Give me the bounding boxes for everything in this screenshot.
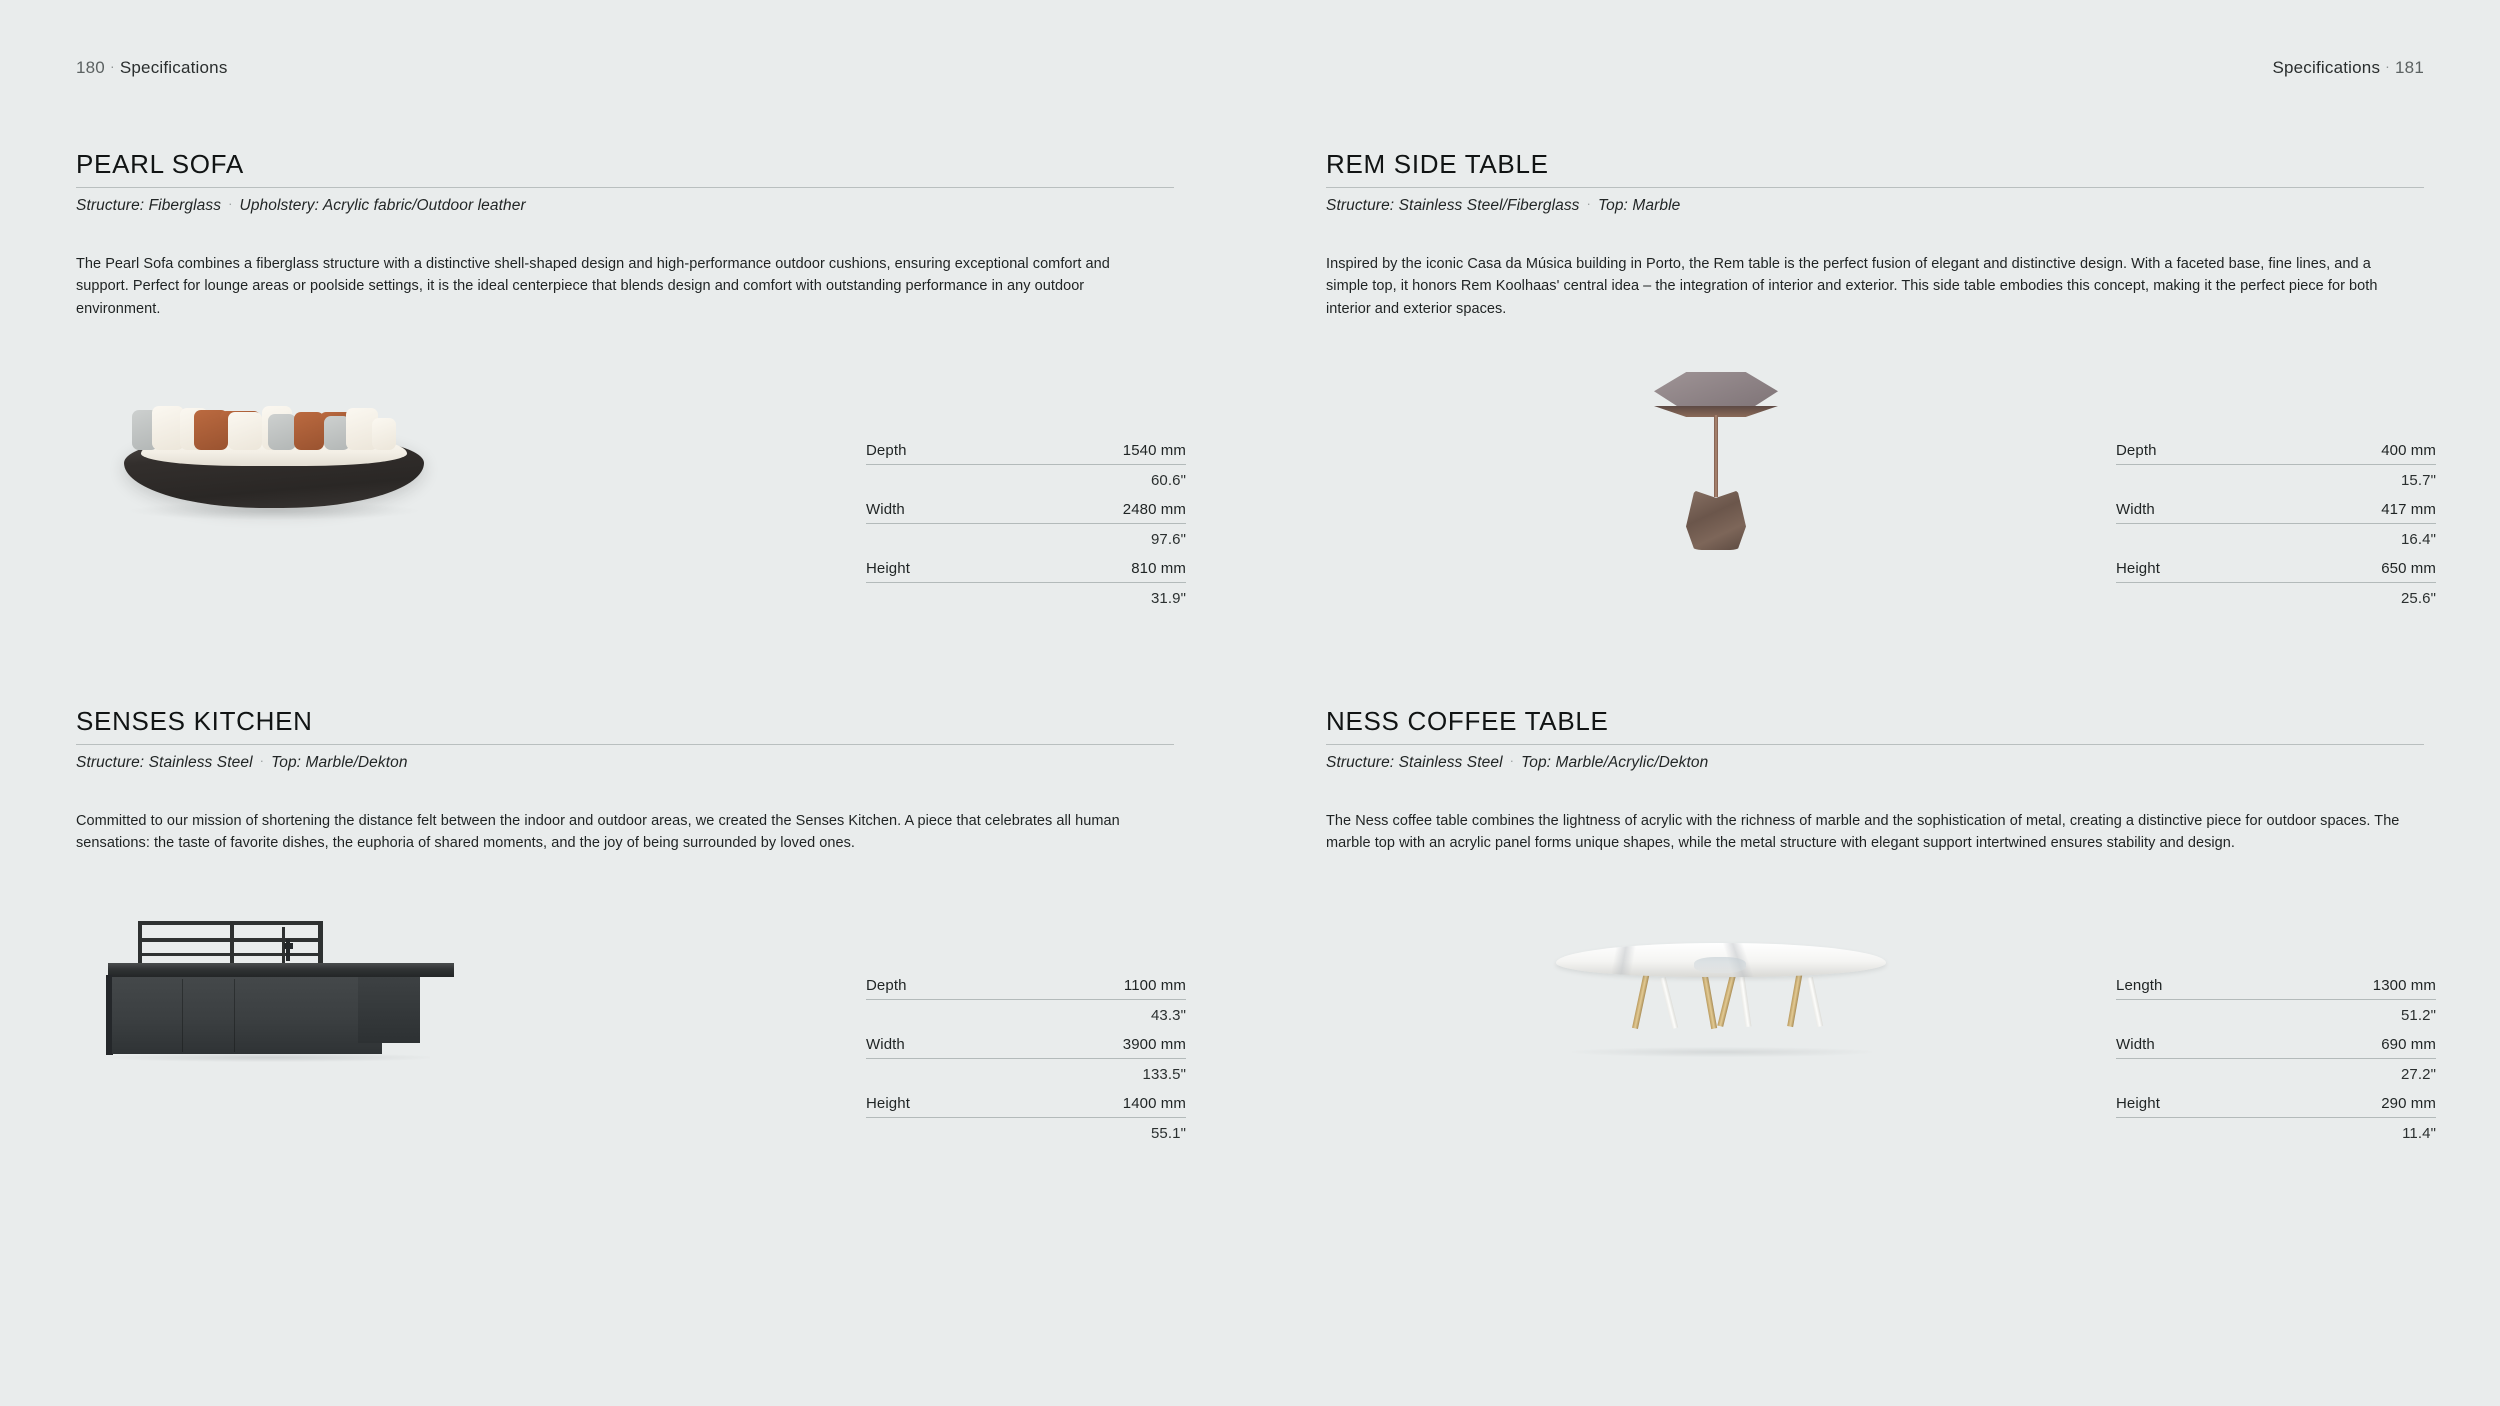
product-materials: Structure: Stainless Steel·Top: Marble/A… — [1326, 754, 2424, 772]
kitchen-frame-post — [138, 921, 142, 967]
spec-table-rem-side-table: Depth 400 mm 15.7" Width 417 mm 16.4" — [2116, 442, 2436, 619]
kitchen-frame-post — [230, 921, 234, 967]
spec-value-mm: 1400 mm — [1123, 1095, 1186, 1112]
kitchen-table-leg — [358, 977, 420, 1043]
title-rule — [1326, 187, 2424, 188]
kitchen-frame-rail — [138, 953, 323, 956]
ness-leg — [1787, 970, 1803, 1026]
spec-main: Depth 1100 mm — [866, 977, 1186, 999]
ness-leg — [1701, 968, 1717, 1028]
spec-label: Depth — [866, 977, 907, 994]
kitchen-frame-rail — [138, 921, 323, 925]
product-title: REM SIDE TABLE — [1326, 150, 2424, 179]
product-ness-coffee-table: NESS COFFEE TABLE Structure: Stainless S… — [1326, 707, 2424, 1154]
product-image-ness-coffee-table — [1326, 895, 2116, 1145]
page-right: REM SIDE TABLE Structure: Stainless Stee… — [1250, 150, 2500, 1154]
title-rule — [1326, 744, 2424, 745]
product-materials: Structure: Stainless Steel·Top: Marble/D… — [76, 754, 1174, 772]
spec-value-inches: 97.6" — [866, 524, 1186, 548]
material-separator: · — [253, 753, 271, 768]
spec-row: Length 1300 mm 51.2" — [2116, 977, 2436, 1024]
spec-label: Depth — [2116, 442, 2157, 459]
folio-right-page-number: 181 — [2395, 58, 2424, 77]
folio-right: Specifications·181 — [2272, 58, 2424, 78]
product-pearl-sofa: PEARL SOFA Structure: Fiberglass·Upholst… — [76, 150, 1174, 619]
spec-value-mm: 417 mm — [2381, 501, 2436, 518]
product-description: Inspired by the iconic Casa da Música bu… — [1326, 253, 2416, 320]
product-detail-row: Depth 1100 mm 43.3" Width 3900 mm 133.5" — [76, 895, 1174, 1154]
product-senses-kitchen: SENSES KITCHEN Structure: Stainless Stee… — [76, 707, 1174, 1154]
spec-row: Width 417 mm 16.4" — [2116, 501, 2436, 548]
spec-value-mm: 810 mm — [1131, 560, 1186, 577]
spec-value-inches: 15.7" — [2116, 465, 2436, 489]
kitchen-floor-shadow — [110, 1053, 430, 1062]
product-title: PEARL SOFA — [76, 150, 1174, 179]
material-upholstery: Upholstery: Acrylic fabric/Outdoor leath… — [240, 197, 526, 214]
spec-value-inches: 51.2" — [2116, 1000, 2436, 1024]
spec-value-inches: 16.4" — [2116, 524, 2436, 548]
sofa-pillow — [372, 418, 396, 450]
spec-label: Length — [2116, 977, 2162, 994]
spec-value-mm: 690 mm — [2381, 1036, 2436, 1053]
material-separator: · — [221, 196, 239, 211]
spec-main: Length 1300 mm — [2116, 977, 2436, 999]
product-description: The Ness coffee table combines the light… — [1326, 810, 2416, 855]
spec-row: Depth 1100 mm 43.3" — [866, 977, 1186, 1024]
product-detail-row: Depth 1540 mm 60.6" Width 2480 mm 97.6" — [76, 360, 1174, 619]
spec-value-mm: 650 mm — [2381, 560, 2436, 577]
ness-table-illustration — [1556, 943, 1886, 1063]
product-materials: Structure: Stainless Steel/Fiberglass·To… — [1326, 197, 2424, 215]
spec-value-mm: 1540 mm — [1123, 442, 1186, 459]
sofa-pillow — [268, 414, 296, 450]
spec-row: Height 1400 mm 55.1" — [866, 1095, 1186, 1142]
spec-main: Width 417 mm — [2116, 501, 2436, 523]
sofa-illustration — [124, 378, 424, 528]
spec-row: Width 690 mm 27.2" — [2116, 1036, 2436, 1083]
spec-main: Height 1400 mm — [866, 1095, 1186, 1117]
spec-value-inches: 43.3" — [866, 1000, 1186, 1024]
spec-row: Height 650 mm 25.6" — [2116, 560, 2436, 607]
spec-label: Width — [866, 501, 905, 518]
ness-floor-shadow — [1572, 1047, 1872, 1057]
spec-row: Height 290 mm 11.4" — [2116, 1095, 2436, 1142]
spec-value-inches: 11.4" — [2116, 1118, 2436, 1142]
kitchen-cabinet-body — [112, 977, 382, 1054]
ness-leg — [1717, 971, 1736, 1027]
spec-label: Width — [2116, 1036, 2155, 1053]
spec-row: Depth 1540 mm 60.6" — [866, 442, 1186, 489]
spec-main: Height 650 mm — [2116, 560, 2436, 582]
spec-table-senses-kitchen: Depth 1100 mm 43.3" Width 3900 mm 133.5" — [866, 977, 1186, 1154]
material-top: Top: Marble/Dekton — [271, 754, 408, 771]
spec-value-mm: 1100 mm — [1124, 977, 1186, 994]
kitchen-cabinet-seam — [182, 979, 183, 1052]
spec-value-mm: 1300 mm — [2373, 977, 2436, 994]
kitchen-cabinet-seam — [234, 979, 235, 1052]
title-rule — [76, 187, 1174, 188]
spec-row: Depth 400 mm 15.7" — [2116, 442, 2436, 489]
ness-leg — [1807, 976, 1823, 1026]
product-detail-row: Length 1300 mm 51.2" Width 690 mm 27.2" — [1326, 895, 2424, 1154]
material-structure: Structure: Stainless Steel/Fiberglass — [1326, 197, 1580, 214]
kitchen-illustration — [106, 905, 456, 1080]
ness-leg — [1739, 976, 1752, 1026]
spread: PEARL SOFA Structure: Fiberglass·Upholst… — [0, 150, 2500, 1154]
spec-row: Width 2480 mm 97.6" — [866, 501, 1186, 548]
material-separator: · — [1503, 753, 1521, 768]
title-rule — [76, 744, 1174, 745]
rem-table-illustration — [1642, 366, 1792, 546]
product-image-senses-kitchen — [76, 895, 866, 1145]
spec-value-inches: 31.9" — [866, 583, 1186, 607]
product-description: The Pearl Sofa combines a fiberglass str… — [76, 253, 1166, 320]
spec-row: Width 3900 mm 133.5" — [866, 1036, 1186, 1083]
spec-label: Width — [866, 1036, 905, 1053]
rem-faceted-base — [1686, 488, 1746, 550]
spec-label: Height — [2116, 1095, 2160, 1112]
spec-table-ness-coffee-table: Length 1300 mm 51.2" Width 690 mm 27.2" — [2116, 977, 2436, 1154]
spec-label: Height — [2116, 560, 2160, 577]
spec-main: Depth 400 mm — [2116, 442, 2436, 464]
spec-label: Depth — [866, 442, 907, 459]
folio-right-section: Specifications — [2272, 58, 2380, 77]
product-description: Committed to our mission of shortening t… — [76, 810, 1166, 855]
spec-label: Height — [866, 1095, 910, 1112]
rem-stem — [1714, 415, 1718, 497]
material-separator: · — [1580, 196, 1598, 211]
spec-row: Height 810 mm 31.9" — [866, 560, 1186, 607]
product-detail-row: Depth 400 mm 15.7" Width 417 mm 16.4" — [1326, 360, 2424, 619]
product-title: SENSES KITCHEN — [76, 707, 1174, 736]
material-top: Top: Marble/Acrylic/Dekton — [1521, 754, 1708, 771]
spec-table-pearl-sofa: Depth 1540 mm 60.6" Width 2480 mm 97.6" — [866, 442, 1186, 619]
folio-left-separator: · — [105, 58, 120, 74]
product-image-rem-side-table — [1326, 360, 2116, 610]
ness-leg — [1660, 977, 1678, 1029]
material-structure: Structure: Stainless Steel — [76, 754, 253, 771]
kitchen-frame-rail — [138, 938, 323, 942]
spec-value-mm: 2480 mm — [1123, 501, 1186, 518]
spec-value-inches: 25.6" — [2116, 583, 2436, 607]
kitchen-faucet-head — [284, 943, 293, 949]
product-image-pearl-sofa — [76, 360, 866, 610]
spec-value-inches: 27.2" — [2116, 1059, 2436, 1083]
spec-main: Width 690 mm — [2116, 1036, 2436, 1058]
kitchen-frame-post — [318, 921, 323, 967]
spec-main: Height 290 mm — [2116, 1095, 2436, 1117]
spec-label: Height — [866, 560, 910, 577]
ness-acrylic-panel — [1694, 957, 1746, 973]
ness-leg — [1632, 971, 1650, 1029]
spec-value-inches: 55.1" — [866, 1118, 1186, 1142]
spec-label: Width — [2116, 501, 2155, 518]
spec-main: Width 3900 mm — [866, 1036, 1186, 1058]
spec-value-inches: 133.5" — [866, 1059, 1186, 1083]
spec-main: Depth 1540 mm — [866, 442, 1186, 464]
spec-main: Width 2480 mm — [866, 501, 1186, 523]
page-left: PEARL SOFA Structure: Fiberglass·Upholst… — [0, 150, 1250, 1154]
folio-left: 180·Specifications — [76, 58, 228, 78]
sofa-pillow — [228, 412, 262, 450]
material-structure: Structure: Stainless Steel — [1326, 754, 1503, 771]
folio-left-page-number: 180 — [76, 58, 105, 77]
page-header: 180·Specifications Specifications·181 — [0, 58, 2500, 80]
spec-value-mm: 3900 mm — [1123, 1036, 1186, 1053]
product-rem-side-table: REM SIDE TABLE Structure: Stainless Stee… — [1326, 150, 2424, 619]
spec-value-mm: 400 mm — [2381, 442, 2436, 459]
kitchen-countertop — [108, 963, 386, 977]
spec-value-inches: 60.6" — [866, 465, 1186, 489]
material-top: Top: Marble — [1598, 197, 1680, 214]
folio-left-section: Specifications — [120, 58, 228, 77]
spec-value-mm: 290 mm — [2381, 1095, 2436, 1112]
material-structure: Structure: Fiberglass — [76, 197, 221, 214]
product-title: NESS COFFEE TABLE — [1326, 707, 2424, 736]
spec-main: Height 810 mm — [866, 560, 1186, 582]
folio-right-separator: · — [2380, 58, 2395, 74]
product-materials: Structure: Fiberglass·Upholstery: Acryli… — [76, 197, 1174, 215]
